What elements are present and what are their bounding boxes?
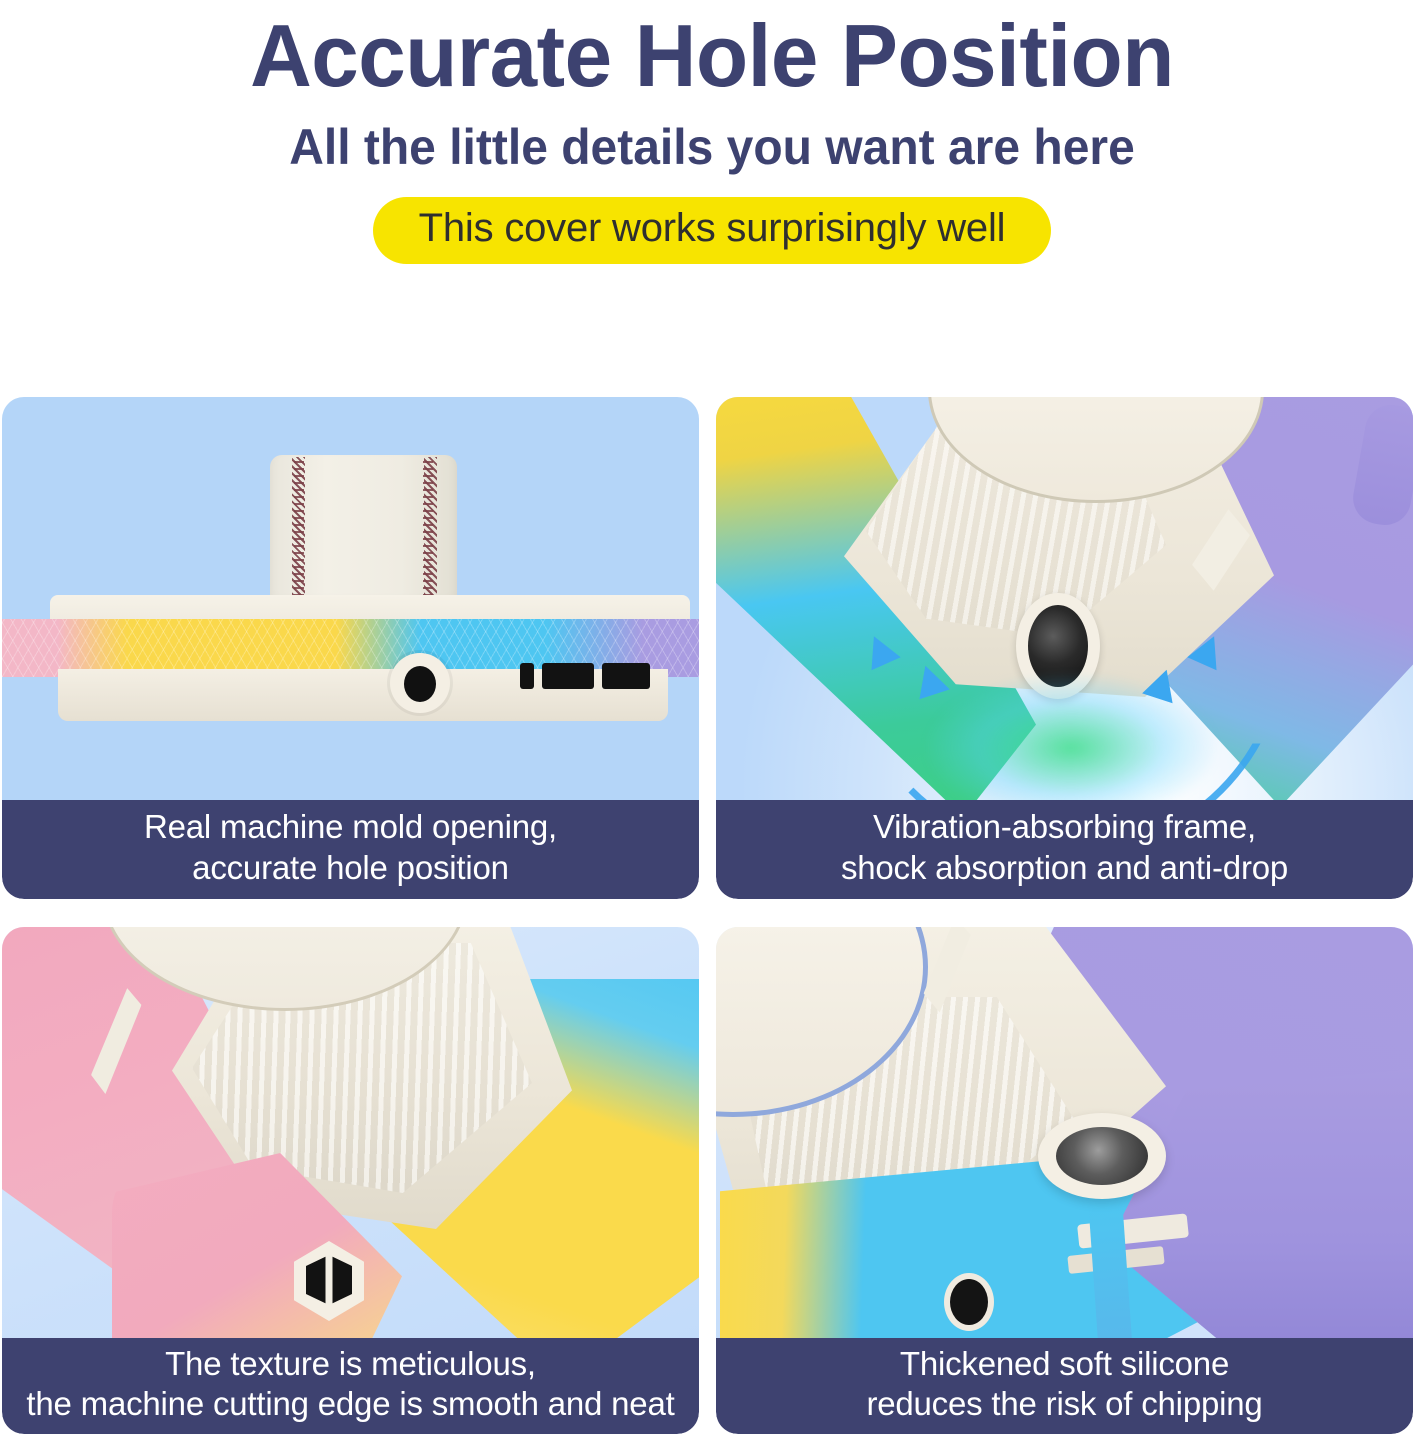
stitch-line-left-icon bbox=[292, 457, 305, 609]
feature-card-top-right: Vibration-absorbing frame, shock absorpt… bbox=[716, 397, 1413, 899]
product-photo-texture bbox=[2, 927, 699, 1347]
caption-line-2: accurate hole position bbox=[192, 848, 509, 888]
caption-line-1: Vibration-absorbing frame, bbox=[873, 807, 1256, 847]
caption-line-1: The texture is meticulous, bbox=[165, 1344, 536, 1384]
feature-card-bottom-right: Thickened soft silicone reduces the risk… bbox=[716, 927, 1413, 1434]
camera-lens-hole-icon bbox=[1056, 1127, 1148, 1185]
header: Accurate Hole Position All the little de… bbox=[0, 0, 1424, 264]
button-cutout-b bbox=[542, 663, 594, 689]
highlight-badge: This cover works surprisingly well bbox=[373, 197, 1052, 264]
caption-top-right: Vibration-absorbing frame, shock absorpt… bbox=[716, 800, 1413, 899]
caption-line-1: Real machine mold opening, bbox=[144, 807, 557, 847]
caption-bottom-right: Thickened soft silicone reduces the risk… bbox=[716, 1338, 1413, 1434]
feature-grid: Real machine mold opening, accurate hole… bbox=[0, 393, 1424, 1438]
button-cutout-a bbox=[520, 663, 534, 689]
page-title: Accurate Hole Position bbox=[21, 4, 1402, 102]
caption-line-2: reduces the risk of chipping bbox=[866, 1384, 1262, 1424]
caption-top-left: Real machine mold opening, accurate hole… bbox=[2, 800, 699, 899]
product-photo-hole-position bbox=[2, 397, 699, 806]
product-photo-shock-absorption bbox=[716, 397, 1413, 806]
badge-row: This cover works surprisingly well bbox=[0, 175, 1424, 264]
caption-line-2: the machine cutting edge is smooth and n… bbox=[26, 1384, 674, 1424]
product-photo-silicone bbox=[716, 927, 1413, 1347]
caption-bottom-left: The texture is meticulous, the machine c… bbox=[2, 1338, 699, 1434]
feature-card-bottom-left: The texture is meticulous, the machine c… bbox=[2, 927, 699, 1434]
button-cutout-c bbox=[602, 663, 650, 689]
microphone-hole-icon bbox=[950, 1279, 988, 1325]
caption-line-1: Thickened soft silicone bbox=[900, 1344, 1229, 1384]
caption-line-2: shock absorption and anti-drop bbox=[841, 848, 1288, 888]
headphone-jack-hole-icon bbox=[404, 666, 436, 702]
page-subtitle: All the little details you want are here bbox=[28, 102, 1395, 175]
stitch-line-right-icon bbox=[424, 457, 437, 609]
feature-card-top-left: Real machine mold opening, accurate hole… bbox=[2, 397, 699, 899]
